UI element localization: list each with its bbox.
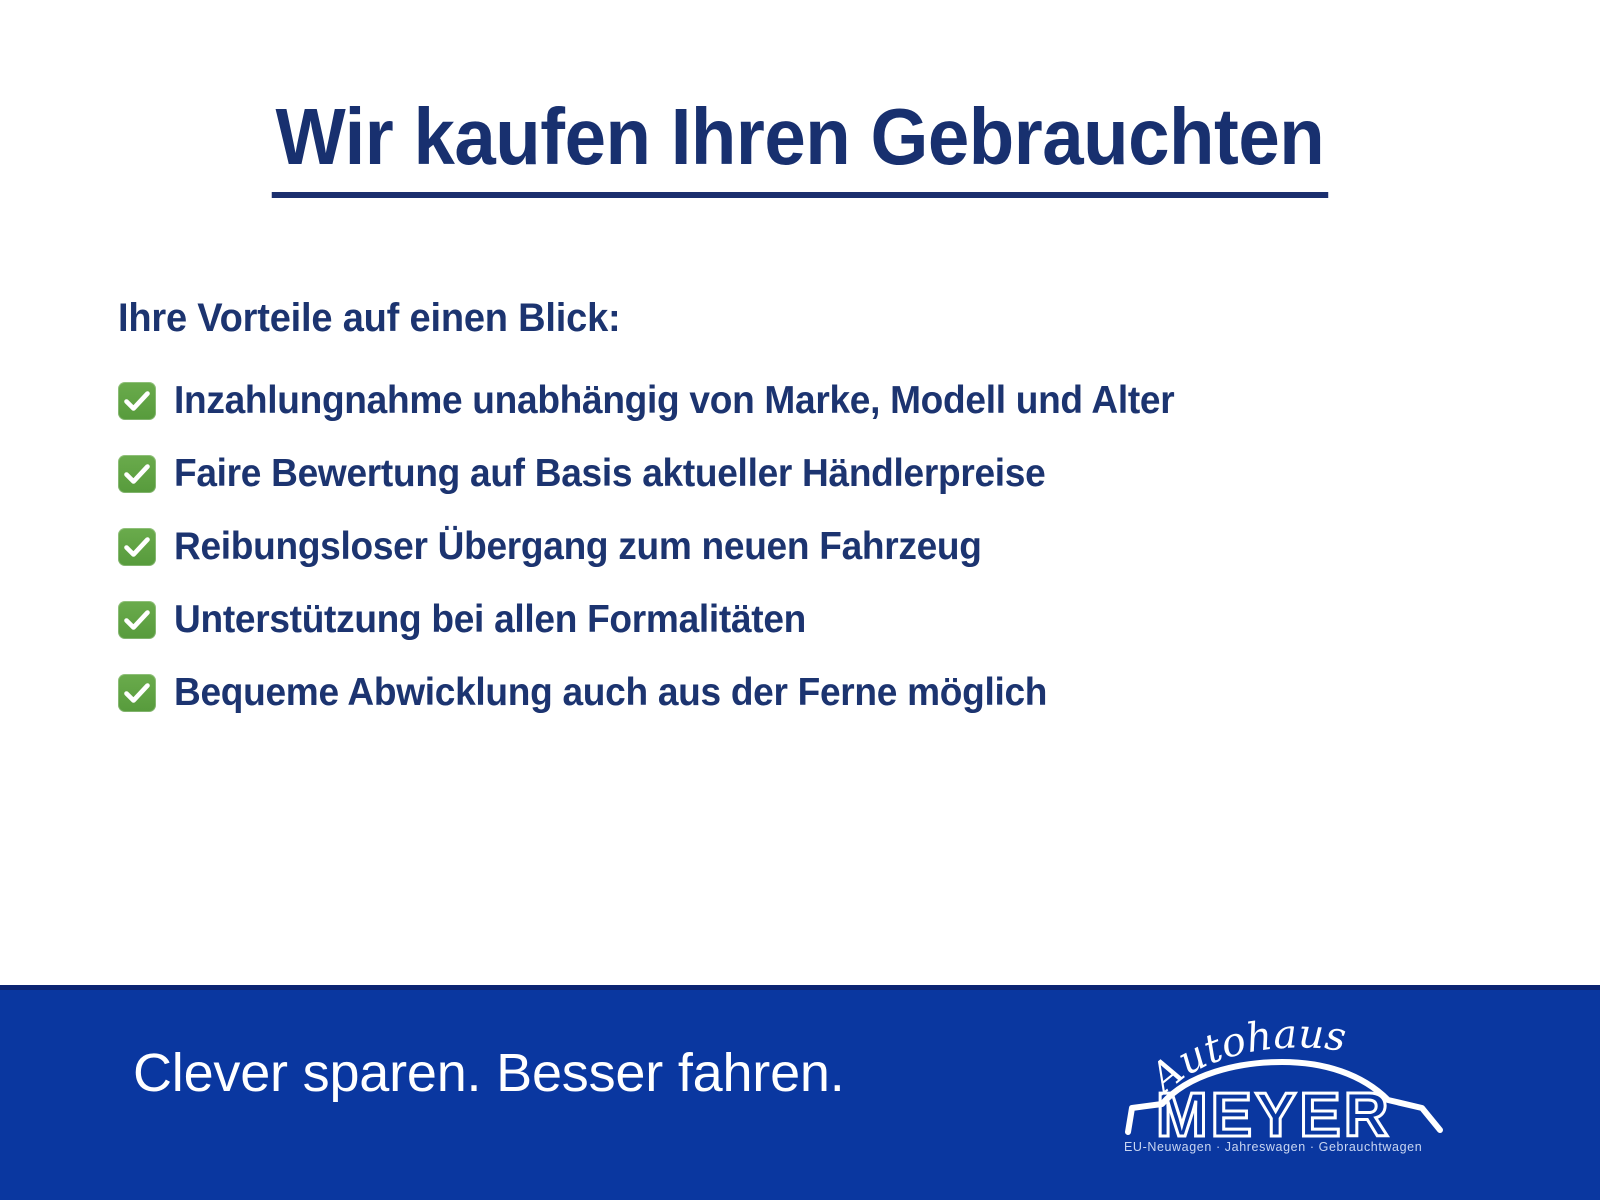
list-item-label: Inzahlungnahme unabhängig von Marke, Mod… <box>174 381 1174 422</box>
footer-slogan: Clever sparen. Besser fahren. <box>133 1046 845 1100</box>
check-icon <box>118 382 156 420</box>
check-icon <box>118 674 156 712</box>
list-item: Bequeme Abwicklung auch aus der Ferne mö… <box>118 670 1518 716</box>
check-icon <box>118 601 156 639</box>
check-icon <box>118 528 156 566</box>
benefits-heading: Ihre Vorteile auf einen Blick: <box>118 296 1448 340</box>
check-icon <box>118 455 156 493</box>
list-item-label: Bequeme Abwicklung auch aus der Ferne mö… <box>174 673 1047 714</box>
list-item: Inzahlungnahme unabhängig von Marke, Mod… <box>118 378 1518 424</box>
benefits-section: Ihre Vorteile auf einen Blick: Inzahlung… <box>118 296 1518 743</box>
page-title: Wir kaufen Ihren Gebrauchten <box>272 96 1328 198</box>
logo-tagline: EU-Neuwagen · Jahreswagen · Gebrauchtwag… <box>1124 1140 1422 1154</box>
list-item: Unterstützung bei allen Formalitäten <box>118 597 1518 643</box>
list-item: Reibungsloser Übergang zum neuen Fahrzeu… <box>118 524 1518 570</box>
list-item-label: Reibungsloser Übergang zum neuen Fahrzeu… <box>174 527 982 568</box>
list-item-label: Unterstützung bei allen Formalitäten <box>174 600 806 641</box>
advertisement-page: Wir kaufen Ihren Gebrauchten Ihre Vortei… <box>0 0 1600 1200</box>
list-item-label: Faire Bewertung auf Basis aktueller Händ… <box>174 454 1045 495</box>
list-item: Faire Bewertung auf Basis aktueller Händ… <box>118 451 1518 497</box>
headline-container: Wir kaufen Ihren Gebrauchten <box>0 96 1600 198</box>
brand-logo: Autohaus MEYER EU-Neuwagen · Jahreswagen… <box>1110 1004 1470 1154</box>
